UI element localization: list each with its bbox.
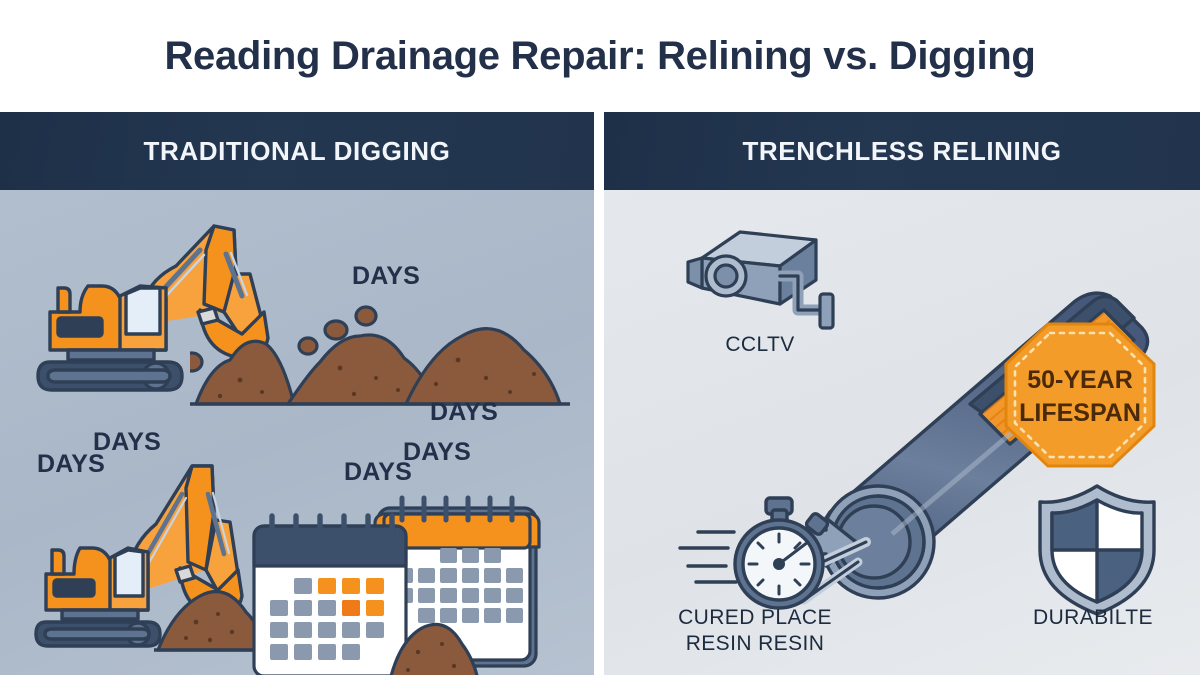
- stopwatch-icon: [662, 492, 852, 614]
- panel-right-header: TRENCHLESS RELINING: [604, 112, 1200, 190]
- lifespan-badge: 50-YEAR LIFESPAN: [1002, 320, 1158, 470]
- days-label: DAYS: [403, 438, 471, 467]
- days-label: DAYS: [37, 450, 105, 479]
- panel-right-body: 50-YEAR LIFESPAN: [604, 190, 1200, 675]
- days-label: DAYS: [352, 262, 420, 291]
- panel-left-header-label: TRADITIONAL DIGGING: [143, 136, 450, 167]
- days-label: DAYS: [344, 458, 412, 487]
- page-title: Reading Drainage Repair: Relining vs. Di…: [164, 34, 1035, 79]
- badge-line-2: LIFESPAN: [1019, 399, 1141, 427]
- calendars-icon: [250, 490, 550, 675]
- infographic-root: Reading Drainage Repair: Relining vs. Di…: [0, 0, 1200, 675]
- panel-traditional-digging: TRADITIONAL DIGGING: [0, 112, 594, 675]
- caption-durability: DURABILTE: [1033, 605, 1153, 631]
- panel-trenchless-relining: TRENCHLESS RELINING: [604, 112, 1200, 675]
- caption-cured-in-place-resin: CURED PLACE RESIN RESIN: [678, 605, 832, 656]
- caption-cctv: CCLTV: [725, 332, 794, 358]
- panel-right-header-label: TRENCHLESS RELINING: [742, 136, 1061, 167]
- shield-icon: [1032, 480, 1162, 620]
- days-label: DAYS: [430, 398, 498, 427]
- panel-left-body: DAYS DAYS DAYS DAYS DAYS DAYS: [0, 190, 594, 675]
- title-bar: Reading Drainage Repair: Relining vs. Di…: [0, 0, 1200, 112]
- panel-divider: [594, 112, 604, 675]
- badge-line-1: 50-YEAR: [1027, 366, 1133, 394]
- panel-left-header: TRADITIONAL DIGGING: [0, 112, 594, 190]
- soil-mounds-top-icon: [190, 300, 570, 410]
